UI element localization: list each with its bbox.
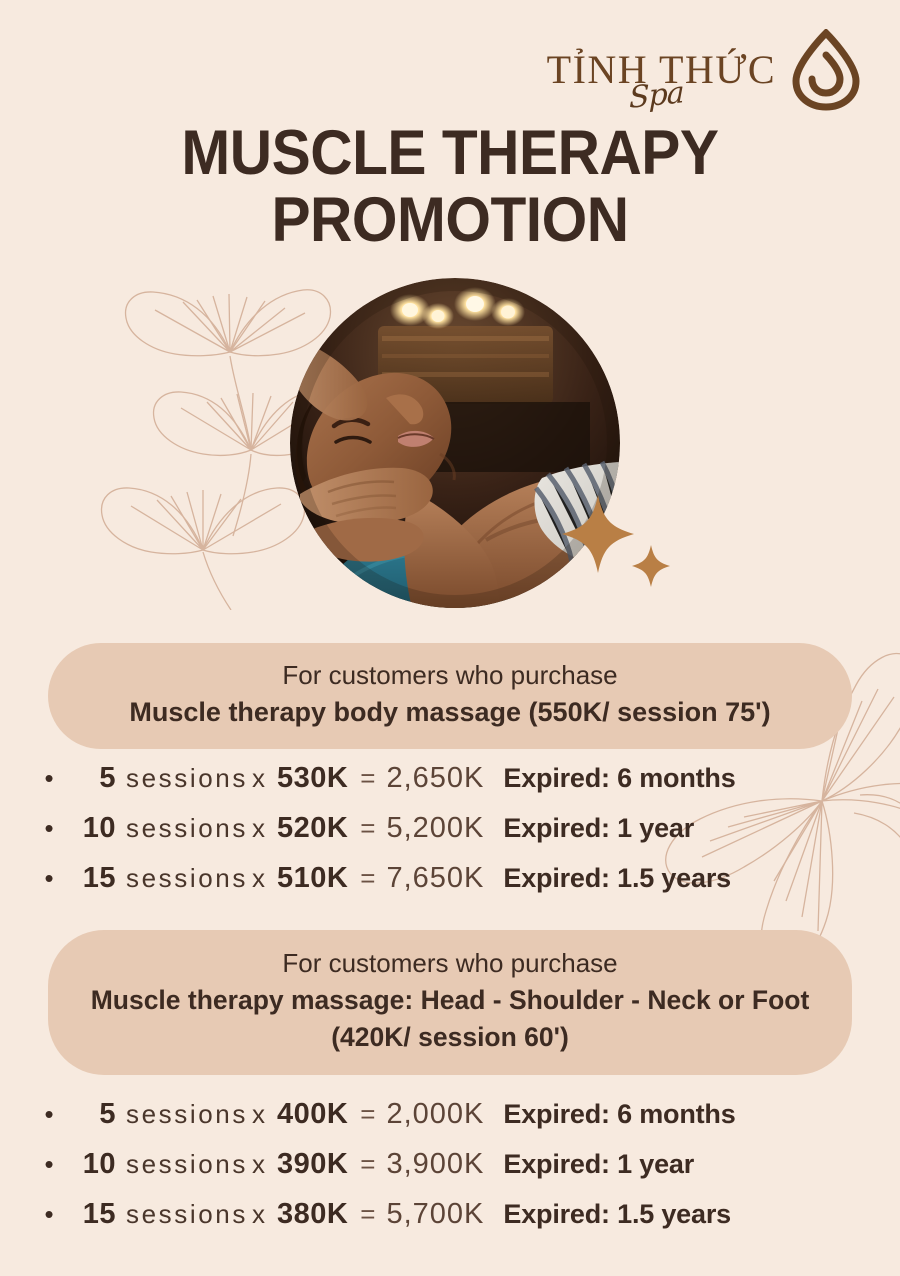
total-price: 2,650K <box>386 762 484 795</box>
bullet-icon: • <box>36 1151 62 1177</box>
session-quantity: 10 <box>62 1148 116 1181</box>
expiry-label: Expired: 1 year <box>503 1149 694 1180</box>
session-quantity: 15 <box>62 862 116 895</box>
bullet-icon: • <box>36 765 62 791</box>
promotion-poster: TỈNH THỨC Spa MUSCLE THERAPY PROMOTION <box>0 0 900 1276</box>
expiry-label: Expired: 1.5 years <box>503 863 731 894</box>
expiry-label: Expired: 1 year <box>503 813 694 844</box>
sparkle-small-icon <box>632 545 670 587</box>
session-quantity: 5 <box>62 1098 116 1131</box>
water-droplet-icon <box>790 29 862 111</box>
session-quantity: 5 <box>62 762 116 795</box>
equals-symbol: = <box>360 1149 375 1180</box>
sessions-label: sessions <box>126 763 248 794</box>
logo-wordmark: TỈNH THỨC Spa <box>547 35 776 105</box>
expiry-label: Expired: 6 months <box>503 1099 735 1130</box>
page-title: MUSCLE THERAPY PROMOTION <box>32 120 869 255</box>
unit-price: 390K <box>277 1148 348 1181</box>
equals-symbol: = <box>360 813 375 844</box>
banner-product-name: Muscle therapy massage: Head - Shoulder … <box>68 983 832 1018</box>
multiply-symbol: x <box>252 1149 265 1180</box>
unit-price: 400K <box>277 1098 348 1131</box>
sessions-label: sessions <box>126 1099 248 1130</box>
bullet-icon: • <box>36 865 62 891</box>
sparkle-large-icon <box>562 495 634 573</box>
offer-banner-body-massage: For customers who purchase Muscle therap… <box>48 643 852 749</box>
price-row: • 5 sessions x 400K = 2,000K Expired: 6 … <box>36 1098 886 1148</box>
banner-product-price: (420K/ session 60') <box>68 1020 832 1055</box>
title-line-2: PROMOTION <box>32 187 869 254</box>
price-row: • 10 sessions x 520K = 5,200K Expired: 1… <box>36 812 886 862</box>
total-price: 5,200K <box>386 812 484 845</box>
title-line-1: MUSCLE THERAPY <box>32 120 869 187</box>
expiry-label: Expired: 6 months <box>503 763 735 794</box>
banner-product-name: Muscle therapy body massage (550K/ sessi… <box>76 695 824 731</box>
equals-symbol: = <box>360 1099 375 1130</box>
multiply-symbol: x <box>252 813 265 844</box>
brand-script-word: Spa <box>629 75 683 116</box>
equals-symbol: = <box>360 863 375 894</box>
equals-symbol: = <box>360 763 375 794</box>
session-quantity: 10 <box>62 812 116 845</box>
sessions-label: sessions <box>126 813 248 844</box>
price-row: • 10 sessions x 390K = 3,900K Expired: 1… <box>36 1148 886 1198</box>
bullet-icon: • <box>36 815 62 841</box>
sessions-label: sessions <box>126 1149 248 1180</box>
sessions-label: sessions <box>126 1199 248 1230</box>
sessions-label: sessions <box>126 863 248 894</box>
multiply-symbol: x <box>252 863 265 894</box>
price-row: • 15 sessions x 510K = 7,650K Expired: 1… <box>36 862 886 912</box>
equals-symbol: = <box>360 1199 375 1230</box>
banner-intro-text: For customers who purchase <box>76 658 824 693</box>
unit-price: 520K <box>277 812 348 845</box>
session-quantity: 15 <box>62 1198 116 1231</box>
price-row: • 15 sessions x 380K = 5,700K Expired: 1… <box>36 1198 886 1248</box>
total-price: 3,900K <box>386 1148 484 1181</box>
total-price: 2,000K <box>386 1098 484 1131</box>
multiply-symbol: x <box>252 763 265 794</box>
banner-intro-text: For customers who purchase <box>68 946 832 981</box>
expiry-label: Expired: 1.5 years <box>503 1199 731 1230</box>
multiply-symbol: x <box>252 1199 265 1230</box>
offer-banner-head-shoulder-neck-foot: For customers who purchase Muscle therap… <box>48 930 852 1075</box>
brand-logo: TỈNH THỨC Spa <box>547 22 862 118</box>
multiply-symbol: x <box>252 1099 265 1130</box>
bullet-icon: • <box>36 1101 62 1127</box>
total-price: 7,650K <box>386 862 484 895</box>
unit-price: 380K <box>277 1198 348 1231</box>
total-price: 5,700K <box>386 1198 484 1231</box>
bullet-icon: • <box>36 1201 62 1227</box>
price-list-body-massage: • 5 sessions x 530K = 2,650K Expired: 6 … <box>36 762 886 912</box>
unit-price: 530K <box>277 762 348 795</box>
unit-price: 510K <box>277 862 348 895</box>
price-row: • 5 sessions x 530K = 2,650K Expired: 6 … <box>36 762 886 812</box>
price-list-head-shoulder-neck-foot: • 5 sessions x 400K = 2,000K Expired: 6 … <box>36 1098 886 1248</box>
